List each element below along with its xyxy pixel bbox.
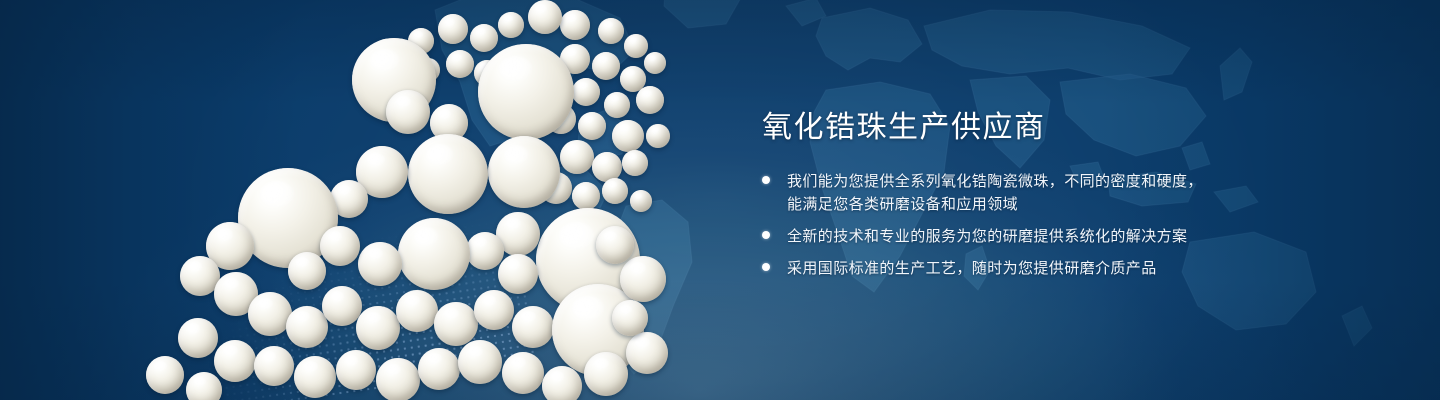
page-title: 氧化锆珠生产供应商 [762, 108, 1232, 148]
list-item: 全新的技术和专业的服务为您的研磨提供系统化的解决方案 [762, 225, 1232, 248]
feature-text: 我们能为您提供全系列氧化锆陶瓷微珠，不同的密度和硬度， 能满足您各类研磨设备和应… [787, 170, 1203, 216]
feature-text: 全新的技术和专业的服务为您的研磨提供系统化的解决方案 [787, 225, 1187, 248]
bullet-dot-icon [762, 263, 770, 271]
banner-copy: 氧化锆珠生产供应商 我们能为您提供全系列氧化锆陶瓷微珠，不同的密度和硬度， 能满… [762, 108, 1232, 280]
list-item: 采用国际标准的生产工艺，随时为您提供研磨介质产品 [762, 257, 1232, 280]
bullet-dot-icon [762, 231, 770, 239]
bullet-dot-icon [762, 176, 770, 184]
feature-line-1: 采用国际标准的生产工艺，随时为您提供研磨介质产品 [787, 260, 1157, 277]
list-item: 我们能为您提供全系列氧化锆陶瓷微珠，不同的密度和硬度， 能满足您各类研磨设备和应… [762, 170, 1232, 216]
feature-line-1: 全新的技术和专业的服务为您的研磨提供系统化的解决方案 [787, 228, 1187, 245]
zirconia-bead-cluster-image [0, 0, 760, 400]
feature-line-1: 我们能为您提供全系列氧化锆陶瓷微珠，不同的密度和硬度， [787, 173, 1203, 190]
feature-list: 我们能为您提供全系列氧化锆陶瓷微珠，不同的密度和硬度， 能满足您各类研磨设备和应… [762, 170, 1232, 280]
feature-text: 采用国际标准的生产工艺，随时为您提供研磨介质产品 [787, 257, 1157, 280]
hero-banner: 氧化锆珠生产供应商 我们能为您提供全系列氧化锆陶瓷微珠，不同的密度和硬度， 能满… [0, 0, 1440, 400]
feature-line-2: 能满足您各类研磨设备和应用领域 [787, 193, 1203, 216]
